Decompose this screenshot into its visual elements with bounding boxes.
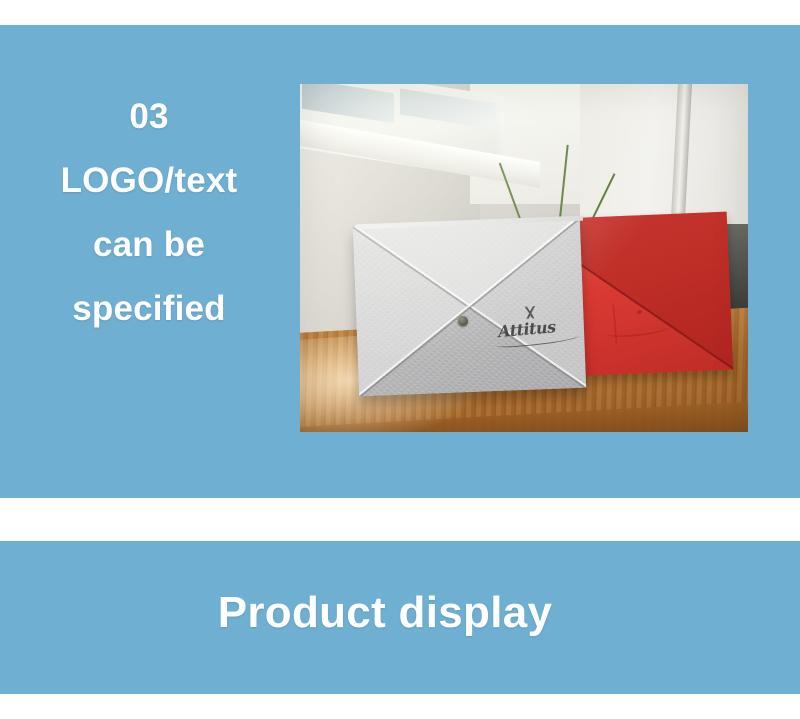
feature-headline-line-1: 03 (14, 85, 284, 149)
feature-headline-line-4: specified (14, 277, 284, 341)
section-title: Product display (0, 585, 770, 641)
product-photo: Attitus (300, 84, 748, 432)
photo-snap-button-icon (458, 316, 468, 326)
feature-headline-line-3: can be (14, 213, 284, 277)
feature-headline-line-2: LOGO/text (14, 149, 284, 213)
photo-red-pouch-logo (599, 300, 681, 344)
page-root: 03 LOGO/text can be specified (0, 0, 800, 719)
feature-headline: 03 LOGO/text can be specified (14, 85, 284, 341)
photo-grey-pouch-logo: Attitus (495, 304, 583, 352)
brand-mark-icon (519, 306, 542, 319)
